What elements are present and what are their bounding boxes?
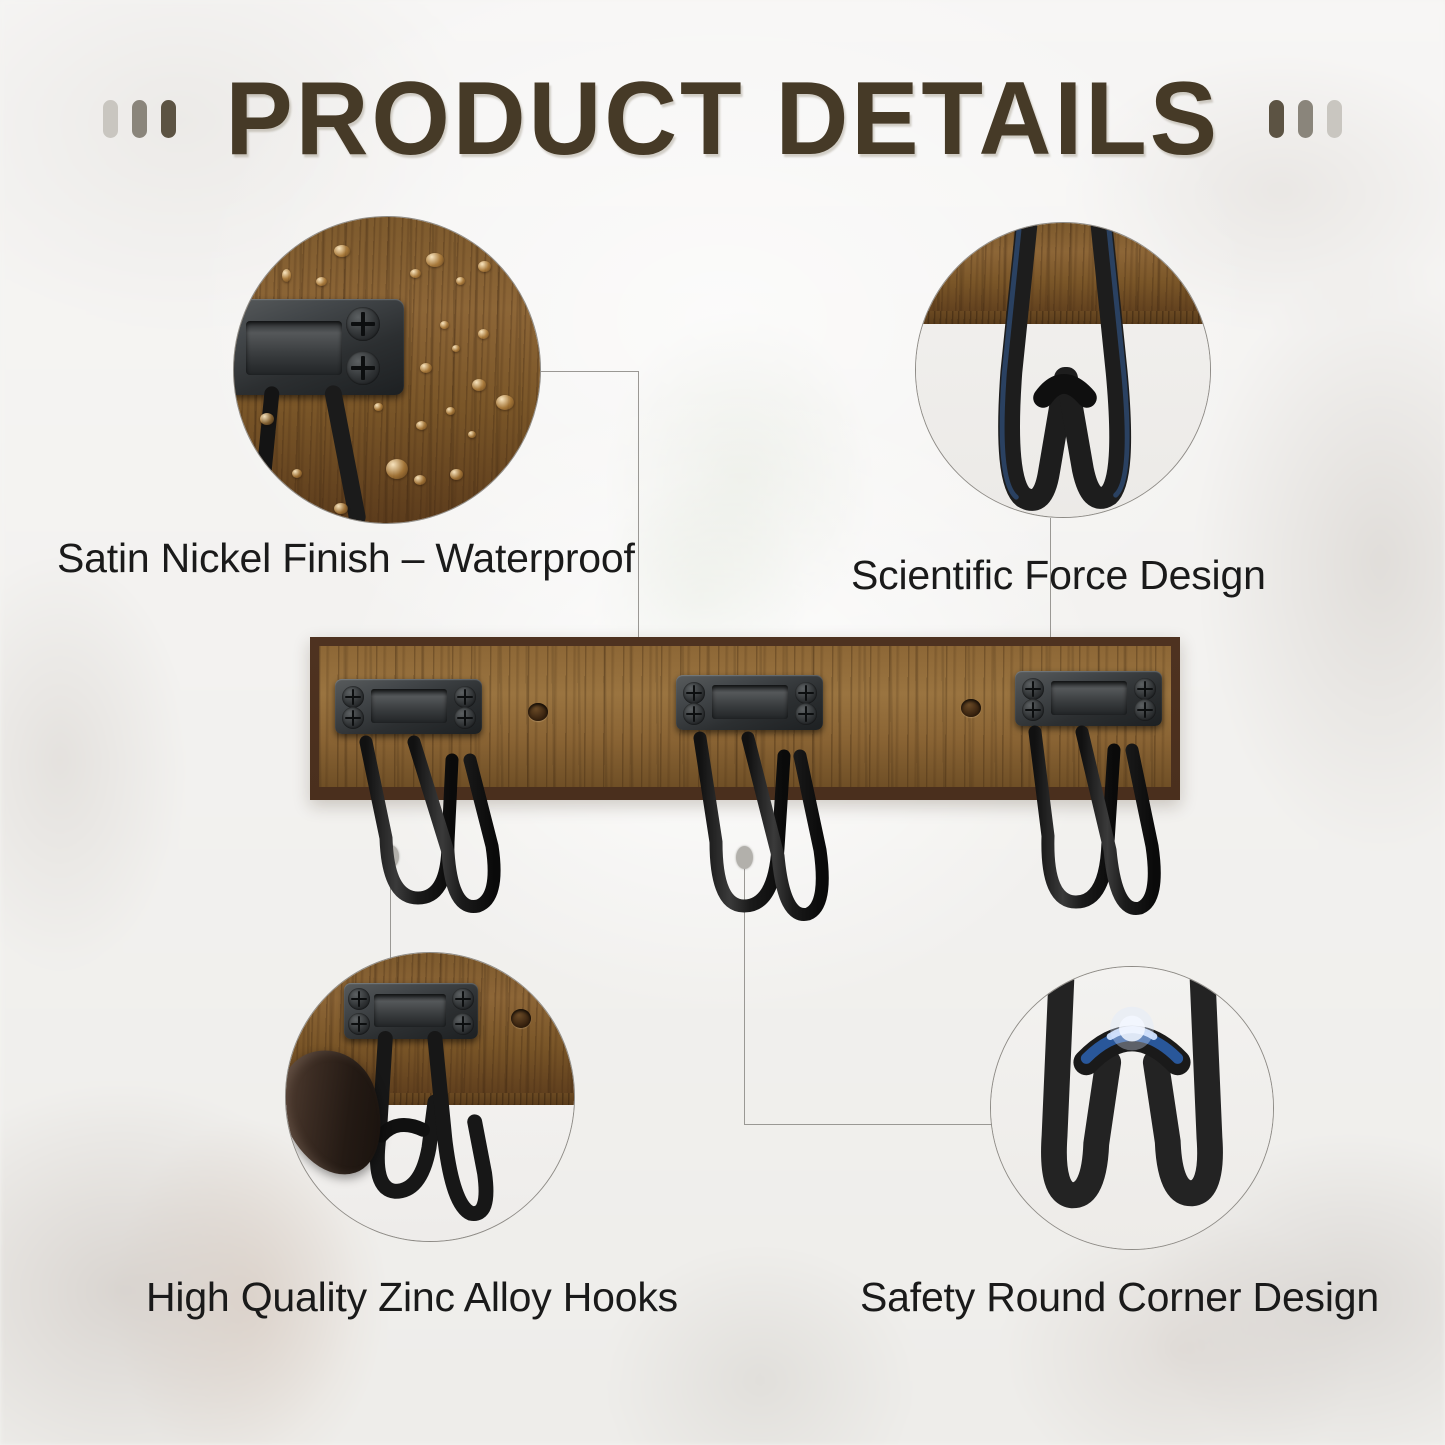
bracket-plate	[335, 679, 482, 734]
hook-wire	[916, 223, 1210, 517]
water-droplet	[416, 421, 427, 430]
water-droplet	[478, 261, 491, 272]
page-title: PRODUCT DETAILS	[225, 67, 1220, 171]
right-decorative-dots	[1269, 100, 1342, 138]
bracket-screw	[1134, 699, 1156, 721]
page-header: PRODUCT DETAILS	[0, 60, 1445, 178]
bracket-screw	[454, 707, 476, 729]
bracket-plate-inner	[371, 689, 447, 723]
water-droplet	[334, 503, 348, 514]
dot-pill	[1269, 100, 1284, 138]
leader-tip-zinc-alloy	[382, 845, 399, 868]
leader-line-satin-nickel-horizontal	[541, 371, 638, 372]
water-droplet	[468, 431, 476, 438]
bracket-screw	[454, 686, 476, 708]
water-droplet	[386, 459, 408, 479]
water-droplet	[446, 407, 455, 415]
callout-image-round-corner	[990, 966, 1274, 1250]
keyhole-mount-slot	[961, 699, 981, 717]
water-droplet	[374, 403, 383, 411]
caption-satin-nickel: Satin Nickel Finish – Waterproof	[57, 535, 635, 582]
bracket-screw	[795, 682, 817, 704]
product-wood-board	[310, 637, 1180, 800]
water-droplet	[456, 277, 465, 285]
bracket-screw	[1022, 678, 1044, 700]
caption-scientific-force: Scientific Force Design	[851, 552, 1266, 599]
water-droplet	[260, 413, 274, 425]
bracket-screw	[1134, 678, 1156, 700]
bracket-screw	[342, 686, 364, 708]
water-droplet	[440, 321, 449, 329]
keyhole-mount-slot	[528, 703, 548, 721]
product-details-infographic: PRODUCT DETAILS	[0, 0, 1445, 1445]
bracket-plate	[676, 675, 823, 730]
water-droplet	[478, 329, 489, 339]
leader-tip-round-corner	[736, 846, 753, 869]
dot-pill	[132, 100, 147, 138]
bracket-plate	[1015, 671, 1162, 726]
leader-line-round-corner-vertical	[744, 858, 745, 1124]
water-droplet	[334, 245, 350, 257]
leader-line-round-corner-horizontal	[744, 1124, 1006, 1125]
bracket-screw	[795, 703, 817, 725]
water-droplet	[414, 475, 426, 485]
bracket-screw	[342, 707, 364, 729]
water-droplet	[410, 269, 421, 278]
water-droplet	[496, 395, 514, 410]
water-droplet	[292, 469, 302, 478]
hook-wire	[991, 967, 1273, 1249]
water-droplet	[452, 345, 460, 352]
bracket-plate-inner	[1051, 681, 1127, 715]
dot-pill	[161, 100, 176, 138]
bracket-screw	[683, 703, 705, 725]
water-droplet	[472, 379, 486, 391]
water-droplet	[282, 269, 291, 282]
dot-pill	[1327, 100, 1342, 138]
left-decorative-dots	[103, 100, 176, 138]
bracket-screw	[1022, 699, 1044, 721]
caption-round-corner: Safety Round Corner Design	[860, 1274, 1379, 1321]
water-droplet	[420, 363, 432, 373]
callout-image-satin-nickel	[233, 216, 541, 524]
water-droplet	[426, 253, 444, 267]
callout-image-zinc-alloy	[285, 952, 575, 1242]
callout-image-scientific-force	[915, 222, 1211, 518]
water-droplet	[450, 469, 463, 480]
water-droplet	[316, 277, 327, 286]
dot-pill	[1298, 100, 1313, 138]
dot-pill	[103, 100, 118, 138]
bracket-screw	[683, 682, 705, 704]
hook-wire	[234, 217, 540, 523]
bracket-plate-inner	[712, 685, 788, 719]
caption-zinc-alloy: High Quality Zinc Alloy Hooks	[146, 1274, 678, 1321]
